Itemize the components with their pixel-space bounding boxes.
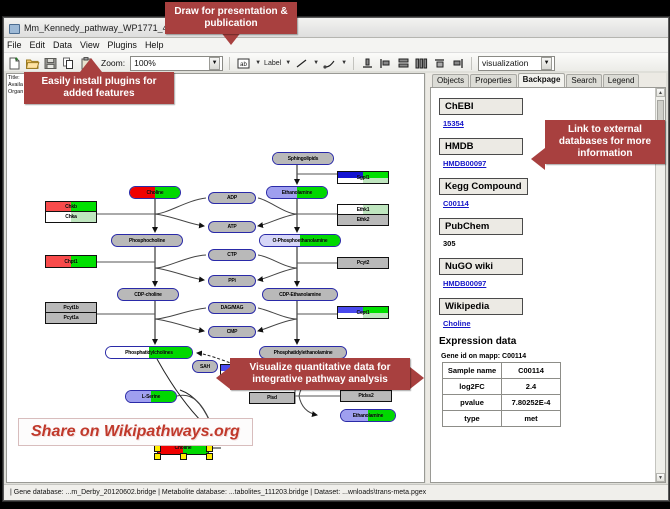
align-top-icon[interactable] bbox=[360, 56, 375, 71]
toolbar-separator bbox=[471, 57, 472, 70]
node-pisd[interactable]: Pisd bbox=[249, 392, 295, 404]
db-entry-pubchem: PubChem 305 bbox=[439, 216, 655, 248]
title-bar: Mm_Kennedy_pathway_WP1771_45176.gpml bbox=[4, 18, 668, 38]
node-label: DAG/MAG bbox=[221, 305, 244, 311]
tab-legend[interactable]: Legend bbox=[603, 74, 640, 87]
db-entry-wikipedia: Wikipedia Choline bbox=[439, 296, 655, 328]
zoom-value: 100% bbox=[134, 58, 156, 68]
gene-id-label: Gene id on mapp: C00114 bbox=[441, 353, 655, 360]
text-label-tool-icon[interactable]: ab bbox=[236, 56, 251, 71]
node-l-serine-left[interactable]: L-Serine bbox=[125, 390, 177, 403]
node-label: Phosphatidylcholines bbox=[125, 350, 173, 356]
table-row: Sample name C00114 bbox=[443, 363, 561, 379]
node-label: Pcyt1a bbox=[64, 315, 79, 321]
node-pcyt2[interactable]: Pcyt2 bbox=[337, 257, 389, 269]
callout-share: Share on Wikipathways.org bbox=[18, 418, 253, 446]
table-row: log2FC 2.4 bbox=[443, 379, 561, 395]
node-phosphocholine[interactable]: Phosphocholine bbox=[111, 234, 183, 247]
db-entry-kegg-compound: Kegg Compound C00114 bbox=[439, 176, 655, 208]
callout-share-text: Share on Wikipathways.org bbox=[31, 423, 240, 440]
node-label: ADP bbox=[227, 195, 237, 201]
callout-visualize-arrow bbox=[216, 367, 230, 389]
node-label: Cept1 bbox=[357, 310, 370, 316]
node-ethanolamine-bottom[interactable]: Ethanolamine bbox=[340, 409, 396, 422]
align-right-icon[interactable] bbox=[450, 56, 465, 71]
node-ethk1[interactable]: Ethk1 bbox=[337, 204, 389, 215]
node-label: ATP bbox=[227, 224, 236, 230]
callout-links: Link to external databases for more info… bbox=[545, 120, 665, 164]
node-adp[interactable]: ADP bbox=[208, 192, 256, 204]
canvas-info-organism: Organ bbox=[8, 89, 23, 96]
menu-item-file[interactable]: File bbox=[7, 40, 22, 50]
node-label: Phosphocholine bbox=[129, 238, 165, 244]
new-file-icon[interactable] bbox=[7, 56, 22, 71]
node-label: Pcyt1b bbox=[63, 305, 78, 311]
db-header-hmdb: HMDB bbox=[439, 138, 523, 155]
table-row: type met bbox=[443, 411, 561, 427]
chevron-down-icon[interactable]: ▼ bbox=[255, 60, 261, 66]
tab-objects[interactable]: Objects bbox=[432, 74, 469, 87]
node-label: Ethk1 bbox=[357, 207, 370, 213]
db-header-pubchem: PubChem bbox=[439, 218, 523, 235]
tab-backpage[interactable]: Backpage bbox=[518, 73, 566, 87]
chevron-down-icon[interactable]: ▼ bbox=[209, 57, 220, 70]
expression-data-heading: Expression data bbox=[439, 336, 655, 347]
menu-bar: File Edit Data View Plugins Help bbox=[4, 38, 668, 53]
row-value: 7.80252E-4 bbox=[502, 395, 561, 411]
row-key: type bbox=[443, 411, 502, 427]
node-label: Pisd bbox=[267, 395, 277, 401]
canvas-info-block: Title: Availa Organ bbox=[8, 75, 23, 96]
stack-vertical-icon[interactable] bbox=[396, 56, 411, 71]
save-icon[interactable] bbox=[43, 56, 58, 71]
node-label: Chpt1 bbox=[64, 259, 77, 265]
node-ppi[interactable]: PPi bbox=[208, 275, 256, 287]
zoom-label: Zoom: bbox=[101, 58, 125, 68]
node-chpt1[interactable]: Chpt1 bbox=[45, 255, 97, 268]
tab-properties[interactable]: Properties bbox=[470, 74, 516, 87]
node-label: O-Phosphoethanolamine bbox=[273, 238, 328, 244]
table-row: pvalue 7.80252E-4 bbox=[443, 395, 561, 411]
node-label: Phosphatidylethanolamine bbox=[274, 350, 333, 356]
row-key: Sample name bbox=[443, 363, 502, 379]
canvas-info-availability: Availa bbox=[8, 82, 23, 89]
node-label: Sphingolipids bbox=[288, 156, 318, 162]
callout-plugins: Easily install plugins for added feature… bbox=[24, 72, 174, 104]
copy-icon[interactable] bbox=[61, 56, 76, 71]
application-icon bbox=[8, 22, 20, 34]
node-label: CDP-Ethanolamine bbox=[279, 292, 321, 298]
panel-tab-row: Objects Properties Backpage Search Legen… bbox=[426, 73, 666, 87]
node-label: Ethanolamine bbox=[353, 413, 383, 419]
node-choline[interactable]: Choline bbox=[129, 186, 181, 199]
line-tool-icon[interactable] bbox=[294, 56, 309, 71]
visualization-combobox[interactable]: visualization ▼ bbox=[478, 56, 555, 71]
align-left-icon[interactable] bbox=[378, 56, 393, 71]
callout-links-arrow bbox=[531, 148, 545, 170]
canvas-info-title: Title: bbox=[8, 75, 23, 82]
chevron-down-icon[interactable]: ▼ bbox=[285, 60, 291, 66]
visualization-value: visualization bbox=[482, 58, 528, 68]
node-ethk2[interactable]: Ethk2 bbox=[337, 215, 389, 226]
row-key: pvalue bbox=[443, 395, 502, 411]
node-pcyt1a[interactable]: Pcyt1a bbox=[45, 313, 97, 324]
node-label: Ethk2 bbox=[357, 217, 370, 223]
node-ctp[interactable]: CTP bbox=[208, 249, 256, 261]
scroll-down-icon[interactable]: ▼ bbox=[656, 473, 665, 482]
status-bar: | Gene database: ...m_Derby_20120602.bri… bbox=[4, 484, 668, 500]
node-label: Chka bbox=[65, 214, 76, 220]
menu-item-edit[interactable]: Edit bbox=[30, 40, 46, 50]
node-label: Ethanolamine bbox=[282, 190, 312, 196]
node-cdp-choline[interactable]: CDP-choline bbox=[117, 288, 179, 301]
db-header-chebi: ChEBI bbox=[439, 98, 523, 115]
expression-table: Sample name C00114 log2FC 2.4 pvalue 7.8… bbox=[442, 362, 561, 427]
node-cept1[interactable]: Cept1 bbox=[337, 306, 389, 319]
chevron-down-icon[interactable]: ▼ bbox=[313, 60, 319, 66]
status-text: | Gene database: ...m_Derby_20120602.bri… bbox=[4, 489, 426, 496]
node-label: PPi bbox=[228, 278, 235, 284]
db-link-wikipedia[interactable]: Choline bbox=[443, 319, 655, 328]
db-link-kegg-compound[interactable]: C00114 bbox=[443, 199, 655, 208]
node-label: Ptdss2 bbox=[358, 393, 373, 399]
row-key: log2FC bbox=[443, 379, 502, 395]
db-entry-nugo-wiki: NuGO wiki HMDB00097 bbox=[439, 256, 655, 288]
selection-handle bbox=[206, 453, 213, 460]
chevron-down-icon[interactable]: ▼ bbox=[341, 60, 347, 66]
label-tool-label[interactable]: Label bbox=[264, 60, 281, 67]
node-label: CDP-choline bbox=[134, 292, 162, 298]
node-chka[interactable]: Chka bbox=[45, 212, 97, 223]
open-folder-icon[interactable] bbox=[25, 56, 40, 71]
interaction-tool-icon[interactable] bbox=[322, 56, 337, 71]
node-cmp[interactable]: CMP bbox=[208, 326, 256, 338]
selection-handle bbox=[180, 453, 187, 460]
row-value: met bbox=[502, 411, 561, 427]
callout-draw: Draw for presentation & publication bbox=[165, 2, 297, 34]
node-label: Chkb bbox=[65, 204, 77, 210]
scroll-up-icon[interactable]: ▲ bbox=[656, 88, 665, 97]
node-ptdss2[interactable]: Ptdss2 bbox=[340, 390, 392, 402]
node-pcyt1b[interactable]: Pcyt1b bbox=[45, 302, 97, 313]
node-phosphatidylcholines[interactable]: Phosphatidylcholines bbox=[105, 346, 193, 359]
distribute-horizontal-icon[interactable] bbox=[414, 56, 429, 71]
db-header-kegg-compound: Kegg Compound bbox=[439, 178, 528, 195]
node-label: Pcyt2 bbox=[357, 260, 369, 266]
toolbar-separator bbox=[229, 57, 230, 70]
node-cdp-ethanolamine[interactable]: CDP-Ethanolamine bbox=[262, 288, 338, 301]
tab-search[interactable]: Search bbox=[566, 74, 601, 87]
db-header-nugo-wiki: NuGO wiki bbox=[439, 258, 523, 275]
chevron-down-icon[interactable]: ▼ bbox=[541, 57, 552, 70]
svg-text:ab: ab bbox=[240, 62, 247, 68]
node-label: SAH bbox=[200, 364, 210, 370]
node-atp[interactable]: ATP bbox=[208, 221, 256, 233]
callout-plugins-arrow bbox=[80, 58, 102, 72]
db-link-nugo-wiki[interactable]: HMDB00097 bbox=[443, 279, 655, 288]
db-value-pubchem: 305 bbox=[443, 239, 655, 248]
node-label: CMP bbox=[227, 329, 238, 335]
node-label: CTP bbox=[227, 252, 236, 258]
selection-handle bbox=[206, 445, 213, 452]
db-header-wikipedia: Wikipedia bbox=[439, 298, 523, 315]
node-dag-mag[interactable]: DAG/MAG bbox=[208, 302, 256, 314]
row-value: 2.4 bbox=[502, 379, 561, 395]
menu-item-help[interactable]: Help bbox=[145, 40, 164, 50]
node-sphingolipids[interactable]: Sphingolipids bbox=[272, 152, 334, 165]
node-ethanolamine[interactable]: Ethanolamine bbox=[266, 186, 328, 199]
callout-visualize: Visualize quantitative data for integrat… bbox=[230, 358, 410, 390]
selection-handle bbox=[154, 445, 161, 452]
menu-item-data[interactable]: Data bbox=[53, 40, 72, 50]
callout-visualize-arrow-right bbox=[410, 367, 424, 389]
node-o-phosphoethanolamine[interactable]: O-Phosphoethanolamine bbox=[259, 234, 341, 247]
node-sgpl1[interactable]: Sgpl1 bbox=[337, 171, 389, 184]
node-label: L-Serine bbox=[142, 394, 160, 400]
menu-item-view[interactable]: View bbox=[80, 40, 99, 50]
node-sah[interactable]: SAH bbox=[192, 360, 218, 373]
row-value: C00114 bbox=[502, 363, 561, 379]
screenshot-root: Mm_Kennedy_pathway_WP1771_45176.gpml Fil… bbox=[0, 0, 670, 509]
menu-item-plugins[interactable]: Plugins bbox=[107, 40, 137, 50]
selection-handle bbox=[154, 453, 161, 460]
node-label: Choline bbox=[147, 190, 164, 196]
toolbar-separator bbox=[353, 57, 354, 70]
node-label: Sgpl1 bbox=[357, 175, 370, 181]
node-chkb[interactable]: Chkb bbox=[45, 201, 97, 212]
zoom-combobox[interactable]: 100% ▼ bbox=[130, 56, 223, 71]
align-bottom-icon[interactable] bbox=[432, 56, 447, 71]
